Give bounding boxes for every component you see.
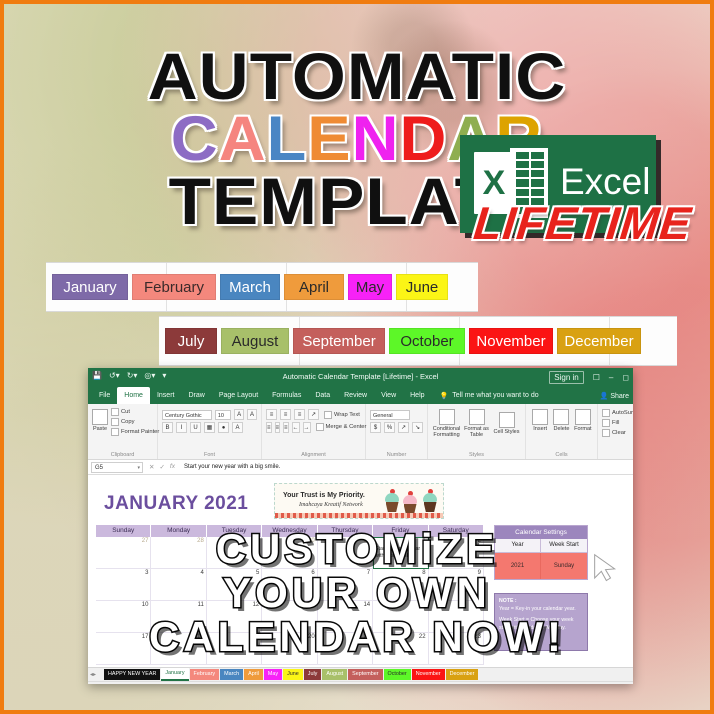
day-number: 18 [197, 634, 204, 640]
day-number: 12 [253, 602, 260, 608]
ribbon-group-clipboard: Paste Cut Copy Format Painter Clipboard [88, 404, 158, 459]
ribbon-group-alignment: ≡ ≡ ≡ ↗ Wrap Text ≡ ≡ ≡ ← → Merge & Cent… [262, 404, 366, 459]
weekday-saturday: Saturday [429, 525, 484, 537]
day-number: 7 [367, 570, 370, 576]
weekday-friday: Friday [373, 525, 428, 537]
calendar-day-cell[interactable]: 11 [151, 601, 206, 633]
delete-label: Delete [554, 426, 570, 432]
increase-indent-button[interactable]: → [303, 422, 311, 433]
ribbon-group-cells: Insert Delete Format Cells [526, 404, 598, 459]
calendar-day-cell[interactable]: 6 [262, 569, 317, 601]
month-button-september[interactable]: September [293, 328, 385, 354]
banner-signature: Imahcaya Kreatif Network [299, 502, 363, 508]
status-bar: Accessibility: Investigate − ─●─ + 100% [88, 681, 633, 684]
increase-decimal-button[interactable]: ↗ [398, 422, 409, 433]
conditional-formatting-button[interactable]: Conditional Formatting [432, 409, 461, 439]
tell-me-label: Tell me what you want to do [452, 392, 538, 399]
paintbrush-icon [111, 428, 119, 436]
calendar-month-title: JANUARY 2021 [104, 493, 248, 515]
calendar-day-cell[interactable]: 30 [262, 537, 317, 569]
format-icon [575, 409, 591, 425]
format-label: Format [574, 426, 591, 432]
bold-button[interactable]: B [162, 422, 173, 433]
settings-value-week-start[interactable]: Sunday [541, 553, 587, 579]
wrap-text-icon [324, 411, 332, 419]
fill-button[interactable]: Fill [602, 419, 633, 427]
day-number: 16 [474, 602, 481, 608]
ribbon-group-styles: Conditional Formatting Format as Table C… [428, 404, 526, 459]
name-box[interactable]: G5 [91, 462, 143, 473]
sheet-tab-december[interactable]: December [446, 669, 479, 680]
number-format-select[interactable]: General [370, 410, 410, 420]
cancel-icon[interactable]: ✕ [149, 463, 154, 471]
calendar-day-cell[interactable]: 10 [96, 601, 151, 633]
banner-tagline: Your Trust is My Priority. [283, 492, 365, 499]
settings-header: Calendar Settings [495, 526, 587, 539]
calendar-day-cell[interactable]: 19 [207, 633, 262, 665]
paste-icon [92, 409, 108, 425]
group-label-font: Font [158, 452, 261, 458]
wrap-text-label: Wrap Text [334, 412, 360, 418]
merge-center-button[interactable]: Merge & Center [316, 423, 367, 431]
merge-cells-icon [316, 423, 324, 431]
share-button[interactable]: 👤 Share [600, 392, 629, 400]
sheet-tab-september[interactable]: September [348, 669, 382, 680]
format-cells-button[interactable]: Format [573, 409, 593, 432]
day-number: 10 [142, 602, 149, 608]
day-number: 5 [256, 570, 259, 576]
increase-font-size-button[interactable]: A [234, 409, 244, 420]
calendar-day-cell[interactable]: 8 [373, 569, 428, 601]
month-strip-row-2: JulyAugustSeptemberOctoberNovemberDecemb… [159, 316, 677, 366]
calendar-day-cell[interactable]: 16 [429, 601, 484, 633]
ribbon-tab-data[interactable]: Data [308, 387, 337, 404]
ribbon-group-number: General $ % ↗ ↘ Number [366, 404, 428, 459]
calendar-day-cell[interactable]: 3 [96, 569, 151, 601]
insert-label: Insert [533, 426, 547, 432]
fill-label: Fill [612, 420, 619, 426]
format-as-table-button[interactable]: Format as Table [462, 409, 491, 439]
settings-value-year[interactable]: 2021 [495, 553, 541, 579]
month-button-october[interactable]: October [389, 328, 465, 354]
delete-icon [553, 409, 569, 425]
ribbon-tab-file[interactable]: File [92, 387, 117, 404]
align-bottom-button[interactable]: ≡ [294, 409, 305, 420]
sheet-tab-may[interactable]: May [264, 669, 282, 680]
ribbon-tab-page-layout[interactable]: Page Layout [212, 387, 265, 404]
poster-canvas: AUTOMATIC CALENDAR TEMPLATE X Excel LIFE… [0, 0, 714, 714]
paste-label: Paste [93, 426, 107, 432]
sheet-tab-happy-new-year[interactable]: HAPPY NEW YEAR [104, 669, 160, 680]
sheet-tab-july[interactable]: July [304, 669, 322, 680]
sheet-tab-august[interactable]: August [322, 669, 347, 680]
day-number: 22 [419, 634, 426, 640]
note-line-2: Week Start = Choose your week start with… [499, 617, 583, 632]
ribbon-tab-help[interactable]: Help [403, 387, 431, 404]
align-right-button[interactable]: ≡ [283, 422, 289, 433]
merge-center-label: Merge & Center [326, 424, 367, 430]
align-left-button[interactable]: ≡ [266, 422, 272, 433]
calendar-day-cell[interactable]: 15 [373, 601, 428, 633]
settings-col-year: Year [495, 539, 541, 553]
day-number: 4 [201, 570, 204, 576]
insert-function-icon[interactable]: fx [170, 463, 175, 471]
insert-cells-button[interactable]: Insert [530, 409, 550, 432]
fill-icon [602, 419, 610, 427]
cut-label: Cut [121, 409, 130, 415]
day-number: 15 [419, 602, 426, 608]
ribbon-tab-review[interactable]: Review [337, 387, 374, 404]
wrap-text-button[interactable]: Wrap Text [324, 411, 360, 419]
font-color-button[interactable]: A [232, 422, 243, 433]
calendar-day-cell[interactable]: 23 [429, 633, 484, 665]
day-number: 28 [197, 538, 204, 544]
cell-styles-icon [499, 412, 515, 428]
month-strip-row-1: JanuaryFebruaryMarchAprilMayJune [46, 262, 478, 312]
day-number: 30 [308, 538, 315, 544]
conditional-formatting-icon [439, 409, 455, 425]
day-number: 27 [142, 538, 149, 544]
sheet-tab-bar: ◂▸ HAPPY NEW YEARJanuaryFebruaryMarchApr… [88, 667, 633, 681]
month-button-february[interactable]: February [132, 274, 216, 300]
ribbon-group-editing: AutoSum Fill Clear Sort & Filter Find & … [598, 404, 633, 459]
calendar-grid: 27282930311Start your new year with a bi… [96, 537, 484, 665]
group-label-number: Number [366, 452, 427, 458]
sheet-tab-november[interactable]: November [412, 669, 445, 680]
calendar-day-cell[interactable]: 18 [151, 633, 206, 665]
day-number: 20 [308, 634, 315, 640]
calendar-day-cell[interactable]: 27 [96, 537, 151, 569]
calendar-day-cell[interactable]: 7 [318, 569, 373, 601]
table-icon [469, 409, 485, 425]
calendar-day-cell[interactable]: 21 [318, 633, 373, 665]
sign-in-button[interactable]: Sign in [549, 371, 583, 384]
copy-icon [111, 418, 119, 426]
calendar-day-cell[interactable]: 17 [96, 633, 151, 665]
tell-me-box[interactable]: 💡 Tell me what you want to do [440, 392, 539, 400]
share-label: Share [610, 393, 629, 400]
day-note: Start your new year with a big smile. [375, 546, 425, 560]
ribbon-display-options-icon[interactable]: ☐ [593, 373, 600, 382]
day-number: 21 [363, 634, 370, 640]
autosum-label: AutoSum [612, 410, 633, 416]
italic-button[interactable]: I [176, 422, 187, 433]
day-number: 6 [311, 570, 314, 576]
day-number: 13 [308, 602, 315, 608]
format-as-table-label: Format as Table [462, 426, 491, 439]
font-size-select[interactable]: 10 [215, 410, 231, 420]
lifetime-label: LIFETIME [471, 196, 694, 250]
ribbon-tab-home[interactable]: Home [117, 387, 150, 404]
cursor-arrow-decoration [591, 553, 625, 583]
month-button-august[interactable]: August [221, 328, 289, 354]
insert-icon [532, 409, 548, 425]
group-label-clipboard: Clipboard [88, 452, 157, 458]
day-number: 9 [478, 570, 481, 576]
day-number: 23 [474, 634, 481, 640]
group-label-styles: Styles [428, 452, 525, 458]
cell-styles-label: Cell Styles [494, 429, 520, 435]
calendar-day-cell[interactable]: 31 [318, 537, 373, 569]
weekday-header-row: SundayMondayTuesdayWednesdayThursdayFrid… [96, 525, 484, 537]
weekday-monday: Monday [151, 525, 206, 537]
calendar-day-cell[interactable]: 29 [207, 537, 262, 569]
calendar-day-cell[interactable]: 5 [207, 569, 262, 601]
day-number: 19 [253, 634, 260, 640]
note-label: NOTE : [499, 598, 583, 606]
group-label-cells: Cells [526, 452, 597, 458]
formula-input[interactable]: Start your new year with a big smile. [181, 464, 630, 470]
calendar-day-cell[interactable]: 9 [429, 569, 484, 601]
calendar-settings-panel: Calendar Settings Year Week Start 2021 S… [494, 525, 588, 580]
group-label-editing: Editing [598, 452, 633, 458]
ribbon-tab-view[interactable]: View [374, 387, 403, 404]
weekday-thursday: Thursday [318, 525, 373, 537]
month-button-june[interactable]: June [396, 274, 448, 300]
cupcake-icon-2 [403, 491, 417, 514]
ribbon: Paste Cut Copy Format Painter Clipboard … [88, 404, 633, 460]
autosum-button[interactable]: AutoSum [602, 409, 633, 417]
day-number: 29 [253, 538, 260, 544]
scissors-icon [111, 408, 119, 416]
borders-button[interactable]: ▦ [204, 422, 215, 433]
ribbon-group-font: Century Gothic 10 A A B I U ▦ ● A Font [158, 404, 262, 459]
ribbon-tab-formulas[interactable]: Formulas [265, 387, 308, 404]
worksheet-area: JANUARY 2021 Your Trust is My Priority. … [88, 475, 633, 667]
minimize-icon[interactable]: – [609, 373, 613, 382]
sheet-tab-january[interactable]: January [161, 668, 188, 681]
month-button-december[interactable]: December [557, 328, 641, 354]
day-number: 11 [198, 602, 204, 608]
day-number: 1 [422, 538, 425, 544]
ribbon-tab-bar: FileHomeInsertDrawPage LayoutFormulasDat… [88, 387, 633, 404]
weekday-wednesday: Wednesday [262, 525, 317, 537]
decrease-indent-button[interactable]: ← [292, 422, 300, 433]
excel-window: 💾 ↺▾ ↻▾ ◎▾ ▾ Automatic Calendar Template… [88, 368, 633, 684]
clear-label: Clear [612, 430, 626, 436]
month-button-may[interactable]: May [348, 274, 392, 300]
calendar-day-cell[interactable]: 14 [318, 601, 373, 633]
day-number: 14 [363, 602, 370, 608]
calendar-day-cell[interactable]: 28 [151, 537, 206, 569]
cupcake-icon-3 [423, 489, 437, 512]
day-number: 31 [363, 538, 370, 544]
fill-color-button[interactable]: ● [218, 422, 229, 433]
font-family-select[interactable]: Century Gothic [162, 410, 212, 420]
sheet-tab-april[interactable]: April [244, 669, 263, 680]
align-center-button[interactable]: ≡ [275, 422, 281, 433]
align-top-button[interactable]: ≡ [266, 409, 277, 420]
sheet-tab-october[interactable]: October [384, 669, 411, 680]
weekday-sunday: Sunday [96, 525, 151, 537]
month-button-march[interactable]: March [220, 274, 280, 300]
ribbon-tab-insert[interactable]: Insert [150, 387, 182, 404]
calendar-day-cell[interactable]: 1Start your new year with a big smile. [373, 537, 428, 569]
day-number: 2 [478, 538, 481, 544]
percent-button[interactable]: % [384, 422, 395, 433]
format-painter-button[interactable]: Format Painter [111, 428, 159, 436]
paste-button[interactable]: Paste [92, 406, 108, 436]
formula-bar: G5 ✕ ✓ fx Start your new year with a big… [88, 460, 633, 475]
conditional-formatting-label: Conditional Formatting [432, 426, 461, 439]
group-label-alignment: Alignment [262, 452, 365, 458]
calendar-day-cell[interactable]: 22 [373, 633, 428, 665]
month-button-november[interactable]: November [469, 328, 553, 354]
calendar-day-cell[interactable]: 20 [262, 633, 317, 665]
calendar-day-cell[interactable]: 2 [429, 537, 484, 569]
day-number: 17 [142, 634, 149, 640]
calendar-day-cell[interactable]: 13 [262, 601, 317, 633]
sheet-tab-march[interactable]: March [220, 669, 243, 680]
day-number: 8 [422, 570, 425, 576]
month-button-july[interactable]: July [165, 328, 217, 354]
ribbon-tab-draw[interactable]: Draw [181, 387, 211, 404]
settings-note-box: NOTE : Year = Key-in your calendar year.… [494, 593, 588, 651]
decrease-font-size-button[interactable]: A [247, 409, 257, 420]
sheet-tab-february[interactable]: February [190, 669, 220, 680]
underline-button[interactable]: U [190, 422, 201, 433]
restore-icon[interactable]: ◻ [622, 373, 629, 382]
enter-icon[interactable]: ✓ [159, 463, 164, 471]
headline-line-automatic: AUTOMATIC [0, 46, 714, 107]
currency-button[interactable]: $ [370, 422, 381, 433]
lightbulb-icon: 💡 [440, 392, 449, 400]
banner-scallop [275, 513, 443, 518]
clear-button[interactable]: Clear [602, 429, 633, 437]
weekday-tuesday: Tuesday [207, 525, 262, 537]
calendar-day-cell[interactable]: 4 [151, 569, 206, 601]
delete-cells-button[interactable]: Delete [551, 409, 571, 432]
decrease-decimal-button[interactable]: ↘ [412, 422, 423, 433]
day-number: 3 [145, 570, 148, 576]
orientation-button[interactable]: ↗ [308, 409, 319, 420]
copy-label: Copy [121, 419, 135, 425]
note-line-1: Year = Key-in your calendar year. [499, 606, 583, 614]
cut-button[interactable]: Cut [111, 408, 159, 416]
eraser-icon [602, 429, 610, 437]
branding-banner: Your Trust is My Priority. Imahcaya Krea… [274, 483, 444, 519]
align-middle-button[interactable]: ≡ [280, 409, 291, 420]
month-button-january[interactable]: January [52, 274, 128, 300]
sheet-nav-arrows[interactable]: ◂▸ [90, 671, 96, 678]
settings-col-week-start: Week Start [541, 539, 587, 553]
sigma-icon [602, 409, 610, 417]
title-bar: 💾 ↺▾ ↻▾ ◎▾ ▾ Automatic Calendar Template… [88, 368, 633, 387]
cupcake-icon-1 [385, 489, 399, 512]
copy-button[interactable]: Copy [111, 418, 159, 426]
month-button-april[interactable]: April [284, 274, 344, 300]
cell-styles-button[interactable]: Cell Styles [492, 409, 521, 439]
window-right-controls[interactable]: Sign in ☐ – ◻ [549, 371, 629, 384]
format-painter-label: Format Painter [121, 429, 159, 435]
sheet-tab-june[interactable]: June [283, 669, 303, 680]
calendar-day-cell[interactable]: 12 [207, 601, 262, 633]
